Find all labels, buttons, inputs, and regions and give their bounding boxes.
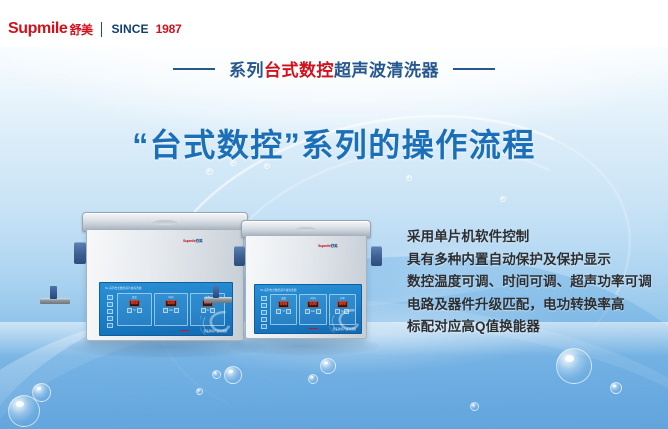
meter-unit: ℃ — [282, 310, 285, 313]
tank-body-large: Supmile舒美 SJ-系列台式数控超声波清洗器 温度 060 ℃ — [86, 229, 244, 341]
keypad-button[interactable] — [107, 302, 113, 307]
meter-value: 030 — [309, 302, 316, 306]
meter-display: 030 — [307, 301, 318, 308]
left-handle-large — [74, 242, 86, 264]
meter-value: 060 — [131, 301, 138, 305]
bubble-decoration — [470, 402, 479, 411]
control-panel-small[interactable]: SJ-系列台式数控超声波清洗器 温度 060 ℃ 时间 — [254, 284, 362, 334]
tank-body-small: Supmile舒美 SJ-系列台式数控超声波清洗器 温度 060 ℃ — [245, 235, 367, 339]
meter-button[interactable] — [316, 309, 321, 314]
meter-unit: ℃ — [133, 309, 136, 312]
keypad-button[interactable] — [107, 323, 113, 328]
panel-title-large: SJ-系列台式数控超声波清洗器 — [105, 286, 142, 290]
device-brand-mark-large: Supmile舒美 — [183, 239, 202, 244]
drain-valve-large[interactable] — [40, 286, 74, 312]
keypad-button[interactable] — [107, 295, 113, 300]
ultrasonic-cleaner-large: Supmile舒美 SJ-系列台式数控超声波清洗器 温度 060 ℃ — [78, 212, 258, 342]
panel-footer-dash-icon — [180, 330, 189, 331]
slide-canvas: Supmile 舒美 SINCE 1987 系列台式数控超声波清洗器 “台式数控… — [0, 0, 668, 429]
bubble-decoration — [196, 388, 203, 395]
header-bar: Supmile 舒美 SINCE 1987 — [0, 0, 668, 47]
rule-left-decoration — [173, 68, 215, 70]
meter-caption: 温度 — [132, 295, 137, 299]
keypad-small[interactable] — [261, 296, 267, 329]
bubble-decoration — [8, 395, 40, 427]
device-brand-cn-small: 舒美 — [331, 244, 338, 248]
page-title: “台式数控”系列的操作流程 — [0, 120, 668, 166]
panel-footer-large: 舒美牌超声波清洗器 — [204, 329, 227, 333]
feature-item: 电路及器件升级匹配，电功转换率高 — [407, 294, 665, 317]
feature-item: 标配对应高Q值换能器 — [407, 316, 665, 339]
meter-button[interactable] — [276, 309, 281, 314]
subtitle-row: 系列台式数控超声波清洗器 — [0, 56, 668, 81]
bubble-decoration — [206, 168, 213, 175]
left-handle-small — [234, 246, 245, 266]
meter-button[interactable] — [127, 308, 132, 313]
valve-knob[interactable] — [213, 286, 219, 298]
keypad-button[interactable] — [107, 309, 113, 314]
meter-caption: 时间 — [169, 295, 174, 299]
device-brand-cn-large: 舒美 — [196, 239, 203, 243]
bubble-decoration — [308, 374, 318, 384]
meter-temperature-small[interactable]: 温度 060 ℃ — [270, 294, 297, 325]
meter-controls[interactable]: ℃ — [127, 308, 142, 313]
meter-display: 060 — [278, 301, 289, 308]
keypad-button[interactable] — [261, 324, 267, 329]
device-brand-latin-small: Supmile — [318, 244, 331, 248]
meter-button[interactable] — [286, 309, 291, 314]
meter-caption: 功率 — [340, 296, 345, 300]
meter-display: 030 — [165, 300, 176, 307]
meter-button[interactable] — [163, 308, 168, 313]
lid-handle-small — [294, 226, 318, 231]
right-handle-small — [371, 246, 382, 266]
meter-display: 060 — [129, 300, 140, 307]
valve-knob[interactable] — [50, 286, 57, 299]
device-brand-latin-large: Supmile — [183, 239, 196, 243]
feature-item: 具有多种内置自动保护及保护显示 — [407, 249, 665, 272]
meter-button[interactable] — [174, 308, 179, 313]
feature-item: 采用单片机软件控制 — [407, 226, 665, 249]
feature-list: 采用单片机软件控制 具有多种内置自动保护及保护显示 数控温度可调、时间可调、超声… — [407, 226, 665, 339]
meter-value: 060 — [280, 302, 287, 306]
meter-button[interactable] — [305, 309, 310, 314]
meter-value: 030 — [167, 301, 174, 305]
bubble-decoration — [500, 196, 506, 202]
keypad-button[interactable] — [261, 296, 267, 301]
meter-caption: 温度 — [281, 296, 286, 300]
meter-temperature-large[interactable]: 温度 060 ℃ — [117, 293, 152, 326]
keypad-button[interactable] — [261, 310, 267, 315]
keypad-button[interactable] — [107, 316, 113, 321]
bubble-decoration — [32, 383, 51, 402]
subtitle-highlight: 台式数控 — [264, 61, 334, 80]
rule-right-decoration — [453, 68, 495, 70]
bubble-decoration — [406, 175, 412, 181]
meter-time-small[interactable]: 时间 030 min — [299, 294, 326, 325]
meter-unit: min — [311, 310, 315, 313]
logo-brand-latin: Supmile — [8, 20, 67, 38]
subtitle-suffix: 超声波清洗器 — [334, 61, 439, 80]
bubble-decoration — [320, 358, 336, 374]
ultrasonic-cleaner-small: Supmile舒美 SJ-系列台式数控超声波清洗器 温度 060 ℃ — [238, 220, 378, 342]
meter-time-large[interactable]: 时间 030 min — [154, 293, 189, 326]
logo-divider-icon — [101, 22, 102, 37]
drain-valve-small[interactable] — [204, 286, 236, 310]
meter-controls[interactable]: ℃ — [276, 309, 291, 314]
keypad-button[interactable] — [261, 317, 267, 322]
bubble-decoration — [556, 348, 592, 384]
feature-item: 数控温度可调、时间可调、超声功率可调 — [407, 271, 665, 294]
bubble-decoration — [610, 382, 622, 394]
meter-button[interactable] — [137, 308, 142, 313]
meter-controls[interactable]: min — [163, 308, 179, 313]
panel-footer-small: 舒美牌超声波清洗器 — [333, 327, 356, 331]
subtitle-prefix: 系列 — [229, 61, 264, 80]
panel-footer-dash-icon — [309, 328, 318, 329]
bubble-decoration — [224, 366, 242, 384]
bubble-decoration — [212, 370, 221, 379]
logo-since-label: SINCE — [111, 22, 148, 36]
device-brand-mark-small: Supmile舒美 — [318, 244, 337, 249]
meter-controls[interactable]: min — [305, 309, 321, 314]
company-logo: Supmile 舒美 SINCE 1987 — [8, 20, 182, 38]
meter-caption: 时间 — [311, 296, 316, 300]
lid-handle-large — [151, 219, 179, 225]
logo-brand-chinese: 舒美 — [69, 21, 92, 38]
keypad-button[interactable] — [261, 303, 267, 308]
keypad-large[interactable] — [107, 295, 113, 328]
logo-since-year: 1987 — [156, 22, 182, 36]
subtitle-text: 系列台式数控超声波清洗器 — [229, 56, 439, 81]
meter-unit: min — [169, 309, 173, 312]
panel-title-small: SJ-系列台式数控超声波清洗器 — [260, 288, 297, 292]
